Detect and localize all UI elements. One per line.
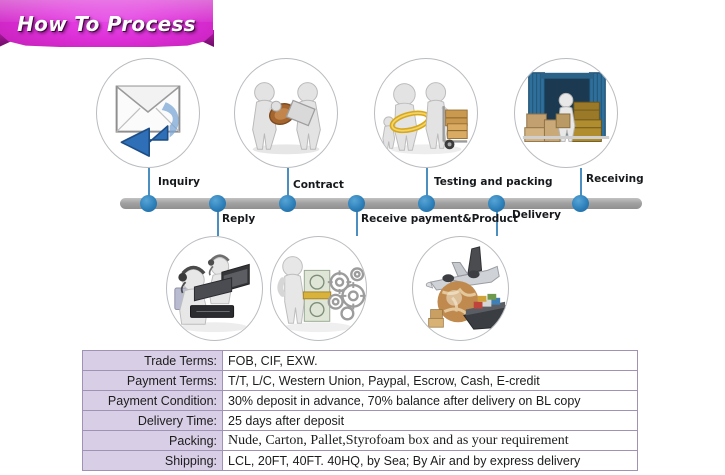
timeline-node-4[interactable]	[348, 195, 365, 212]
handshake-contract-icon	[253, 83, 321, 155]
process-flow-diagram: Inquiry Reply Contract Receive payment&P…	[0, 0, 725, 348]
timeline-node-2[interactable]	[209, 195, 226, 212]
timeline-node-6[interactable]	[488, 195, 505, 212]
row-value-payment-terms: T/T, L/C, Western Union, Paypal, Escrow,…	[223, 371, 638, 391]
connector-receiving	[580, 168, 582, 198]
ring-handtruck-icon	[383, 83, 467, 155]
row-value-packing: Nude, Carton, Pallet,Styrofoam box and a…	[223, 431, 638, 451]
step-label-delivery: Delivery	[512, 209, 561, 221]
row-label-payment-condition: Payment Condition:	[83, 391, 223, 411]
row-value-delivery-time: 25 days after deposit	[223, 411, 638, 431]
step-icon-reply	[166, 236, 263, 341]
row-value-payment-condition: 30% deposit in advance, 70% balance afte…	[223, 391, 638, 411]
timeline-node-1[interactable]	[140, 195, 157, 212]
connector-contract	[287, 168, 289, 198]
step-icon-contract	[234, 58, 338, 168]
row-label-delivery-time: Delivery Time:	[83, 411, 223, 431]
step-icon-testing-and-packing	[374, 58, 478, 168]
step-label-receive-payment: Receive payment&Product	[361, 213, 518, 225]
envelope-reply-icon	[117, 87, 180, 157]
table-row: Payment Terms: T/T, L/C, Western Union, …	[83, 371, 638, 391]
row-value-trade-terms: FOB, CIF, EXW.	[223, 351, 638, 371]
shipping-container-icon	[523, 73, 609, 142]
step-icon-delivery	[412, 236, 509, 341]
step-label-receiving: Receiving	[586, 173, 644, 185]
row-label-payment-terms: Payment Terms:	[83, 371, 223, 391]
step-label-reply: Reply	[222, 213, 255, 225]
step-icon-receive-payment	[270, 236, 367, 341]
table-row: Packing: Nude, Carton, Pallet,Styrofoam …	[83, 431, 638, 451]
table-row: Shipping: LCL, 20FT, 40FT. 40HQ, by Sea;…	[83, 451, 638, 471]
row-label-trade-terms: Trade Terms:	[83, 351, 223, 371]
call-center-icon	[175, 256, 249, 332]
step-icon-receiving	[514, 58, 618, 168]
step-label-contract: Contract	[293, 179, 344, 191]
timeline-node-7[interactable]	[572, 195, 589, 212]
process-timeline-bar	[120, 198, 642, 209]
row-value-shipping: LCL, 20FT, 40FT. 40HQ, by Sea; By Air an…	[223, 451, 638, 471]
row-label-shipping: Shipping:	[83, 451, 223, 471]
table-row: Trade Terms: FOB, CIF, EXW.	[83, 351, 638, 371]
step-label-testing-and-packing: Testing and packing	[434, 176, 553, 188]
timeline-node-3[interactable]	[279, 195, 296, 212]
payment-gears-icon	[280, 257, 366, 332]
step-label-inquiry: Inquiry	[158, 176, 200, 188]
timeline-node-5[interactable]	[418, 195, 435, 212]
connector-testing	[426, 168, 428, 198]
row-label-packing: Packing:	[83, 431, 223, 451]
air-sea-freight-icon	[426, 247, 505, 329]
connector-inquiry	[148, 168, 150, 198]
table-row: Payment Condition: 30% deposit in advanc…	[83, 391, 638, 411]
table-row: Delivery Time: 25 days after deposit	[83, 411, 638, 431]
step-icon-inquiry	[96, 58, 200, 168]
specification-table: Trade Terms: FOB, CIF, EXW. Payment Term…	[82, 350, 638, 471]
